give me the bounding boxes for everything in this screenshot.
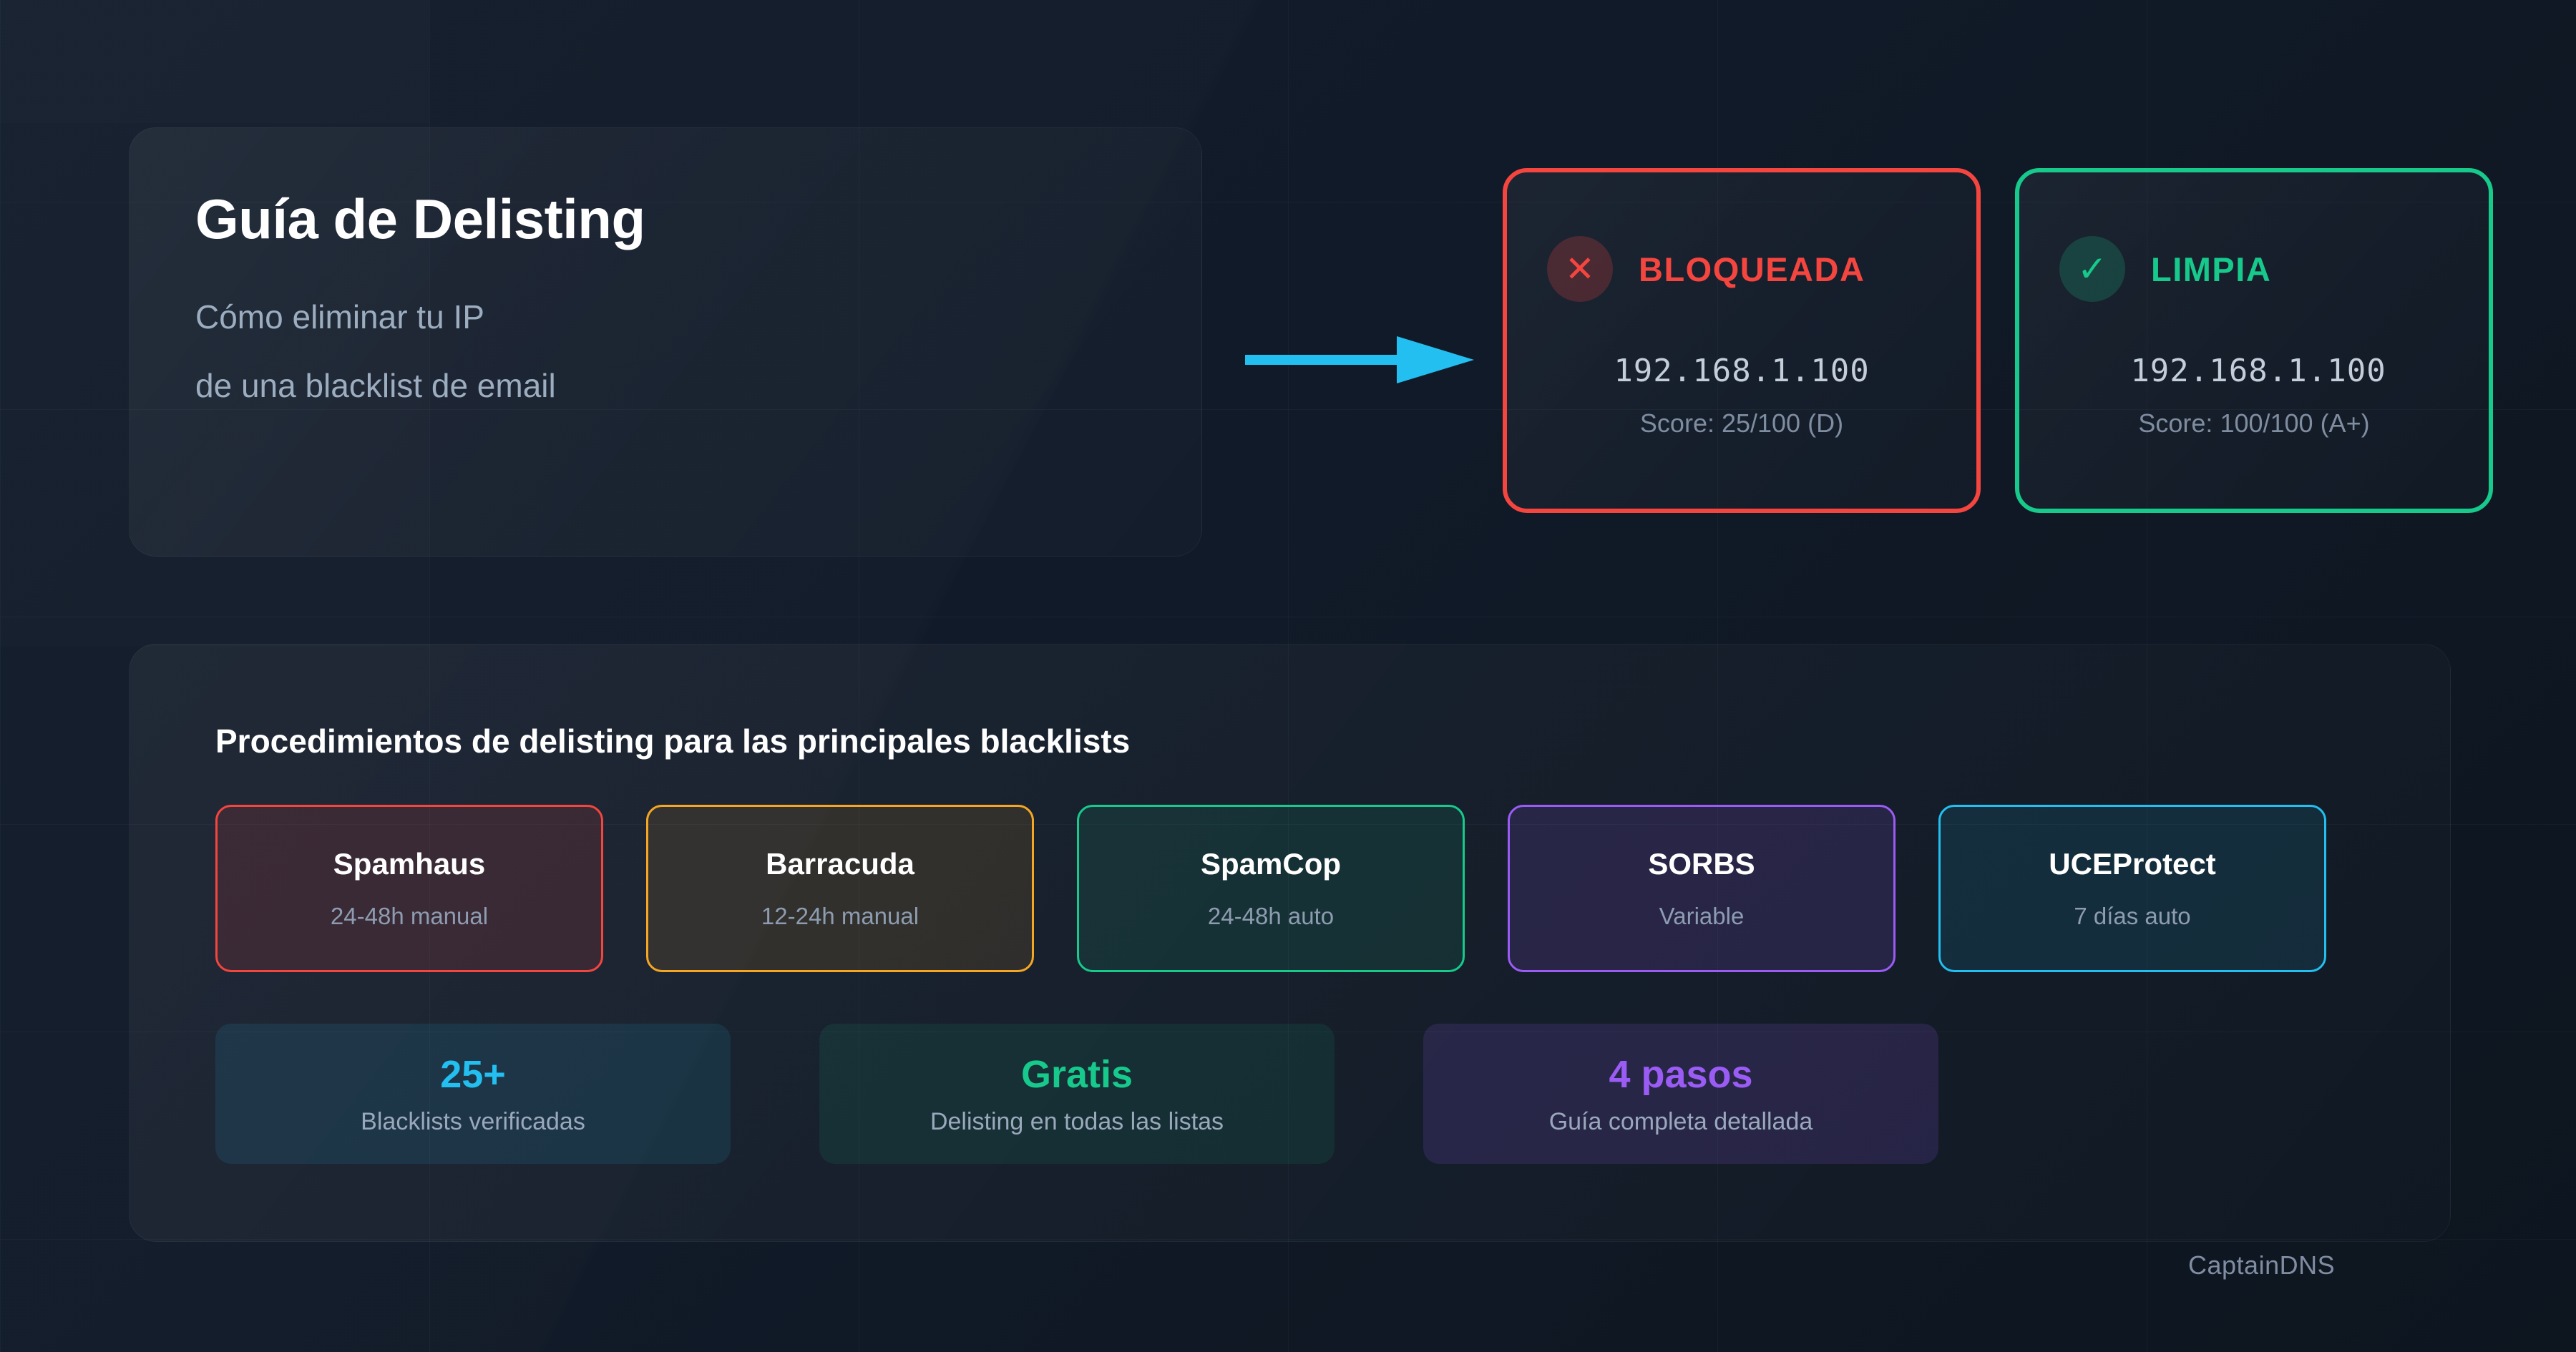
blacklist-delisting-time: 24-48h manual <box>331 903 488 930</box>
check-mark-icon: ✓ <box>2059 236 2125 302</box>
ip-address-value: 192.168.1.100 <box>1507 353 1976 389</box>
stat-card: GratisDelisting en todas las listas <box>819 1024 1335 1164</box>
status-badge: BLOQUEADA <box>1639 250 1865 289</box>
stat-label: Blacklists verificadas <box>361 1108 585 1136</box>
blacklist-name: SpamCop <box>1201 847 1341 881</box>
stat-label: Delisting en todas las listas <box>930 1108 1224 1136</box>
hero-subtitle-line-2: de una blacklist de email <box>195 351 556 420</box>
hero-card: Guía de Delisting Cómo eliminar tu IP de… <box>129 127 1202 557</box>
stat-card: 25+Blacklists verificadas <box>215 1024 731 1164</box>
blacklist-delisting-time: 12-24h manual <box>761 903 919 930</box>
hero-subtitle-line-1: Cómo eliminar tu IP <box>195 283 556 351</box>
background-corner-block <box>0 0 429 123</box>
status-card-blocked: ✕ BLOQUEADA 192.168.1.100 Score: 25/100 … <box>1503 168 1981 513</box>
ip-address-value: 192.168.1.100 <box>2019 353 2489 389</box>
blacklist-card[interactable]: UCEProtect7 días auto <box>1938 805 2326 972</box>
reputation-score-value: Score: 100/100 (A+) <box>2019 408 2489 439</box>
flow-arrow-icon <box>1245 322 1474 404</box>
blacklist-name: Spamhaus <box>333 847 485 881</box>
reputation-score-value: Score: 25/100 (D) <box>1507 408 1976 439</box>
stat-value: 4 pasos <box>1609 1052 1752 1097</box>
status-header: ✕ BLOQUEADA <box>1547 236 1865 302</box>
status-card-clean: ✓ LIMPIA 192.168.1.100 Score: 100/100 (A… <box>2015 168 2493 513</box>
blacklist-card[interactable]: Spamhaus24-48h manual <box>215 805 603 972</box>
stat-card: 4 pasosGuía completa detallada <box>1423 1024 1938 1164</box>
x-mark-icon: ✕ <box>1547 236 1613 302</box>
stat-value: Gratis <box>1021 1052 1133 1097</box>
stat-label: Guía completa detallada <box>1549 1108 1813 1136</box>
blacklist-card[interactable]: SpamCop24-48h auto <box>1077 805 1465 972</box>
blacklist-name: Barracuda <box>766 847 914 881</box>
blacklist-card[interactable]: Barracuda12-24h manual <box>646 805 1034 972</box>
status-header: ✓ LIMPIA <box>2059 236 2271 302</box>
hero-subtitle: Cómo eliminar tu IP de una blacklist de … <box>195 283 556 420</box>
blacklist-card-row: Spamhaus24-48h manualBarracuda12-24h man… <box>215 805 2326 972</box>
blacklist-name: SORBS <box>1648 847 1755 881</box>
stat-card-row: 25+Blacklists verificadasGratisDelisting… <box>215 1024 1938 1164</box>
panel-title: Procedimientos de delisting para las pri… <box>215 722 1130 760</box>
blacklist-delisting-time: Variable <box>1659 903 1745 930</box>
blacklist-delisting-time: 7 días auto <box>2074 903 2190 930</box>
procedures-panel: Procedimientos de delisting para las pri… <box>129 644 2451 1242</box>
blacklist-card[interactable]: SORBSVariable <box>1508 805 1896 972</box>
blacklist-name: UCEProtect <box>2049 847 2215 881</box>
status-badge: LIMPIA <box>2151 250 2271 289</box>
infographic-canvas: Guía de Delisting Cómo eliminar tu IP de… <box>0 0 2576 1352</box>
page-title: Guía de Delisting <box>195 187 645 252</box>
stat-value: 25+ <box>440 1052 506 1097</box>
blacklist-delisting-time: 24-48h auto <box>1208 903 1334 930</box>
brand-watermark: CaptainDNS <box>2188 1250 2335 1280</box>
